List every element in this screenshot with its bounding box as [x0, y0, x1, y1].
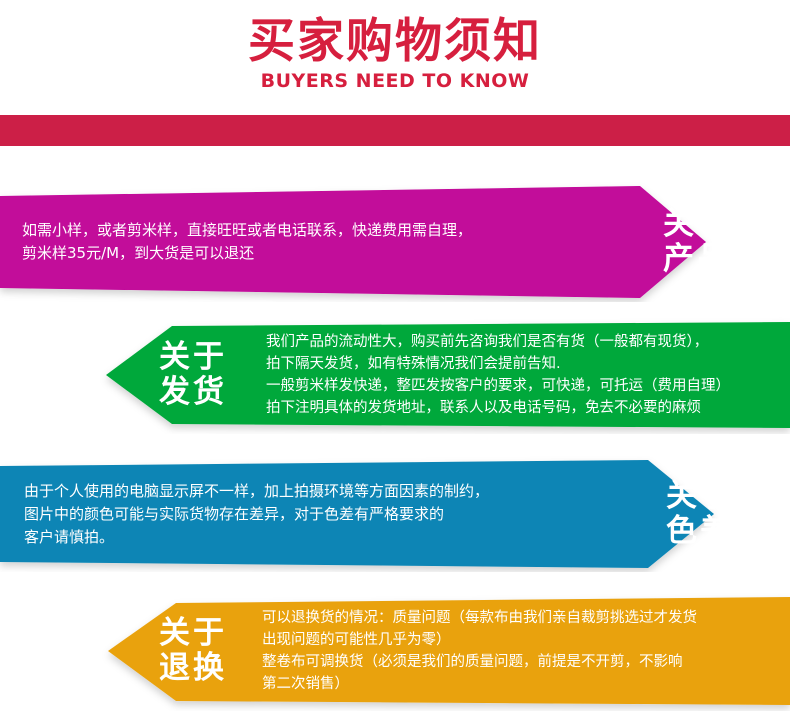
band-text-return: 可以退换货的情况：质量问题（每款布由我们亲自裁剪挑选过才发货 出现问题的可能性几…	[262, 607, 778, 695]
band-label-line: 色差	[630, 514, 770, 549]
notice-band-product: 如需小样，或者剪米样，直接旺旺或者电话联系，快递费用需自理， 剪米样35元/M，…	[0, 182, 790, 302]
shopping-notice-graphic: 买家购物须知 BUYERS NEED TO KNOW 如需小样，或者剪米样，直接…	[0, 0, 790, 727]
notice-band-return: 关于 退换 可以退换货的情况：质量问题（每款布由我们亲自裁剪挑选过才发货 出现问…	[0, 591, 790, 711]
band-text-line: 拍下注明具体的发货地址，联系人以及电话号码，免去不必要的麻烦	[266, 397, 778, 419]
band-content-color: 由于个人使用的电脑显示屏不一样，加上拍摄环境等方面因素的制约， 图片中的颜色可能…	[0, 456, 790, 572]
band-label-line: 关于	[630, 479, 770, 514]
band-content-shipping: 关于 发货 我们产品的流动性大，购买前先咨询我们是否有货（一般都有现货）， 拍下…	[0, 316, 790, 434]
band-label-line: 关于	[132, 616, 254, 651]
band-text-line: 出现问题的可能性几乎为零）	[262, 629, 778, 651]
page-title-cn: 买家购物须知	[0, 14, 790, 70]
band-text-line: 我们产品的流动性大，购买前先咨询我们是否有货（一般都有现货），	[266, 331, 778, 353]
band-label-line: 关于	[622, 207, 772, 242]
band-text-line: 如需小样，或者剪米样，直接旺旺或者电话联系，快递费用需自理，	[22, 219, 616, 242]
band-text-color: 由于个人使用的电脑显示屏不一样，加上拍摄环境等方面因素的制约， 图片中的颜色可能…	[24, 480, 630, 549]
band-text-line: 可以退换货的情况：质量问题（每款布由我们亲自裁剪挑选过才发货	[262, 607, 778, 629]
band-text-line: 图片中的颜色可能与实际货物存在差异，对于色差有严格要求的	[24, 503, 630, 526]
red-divider-banner	[0, 115, 790, 146]
band-text-line: 拍下隔天发货，如有特殊情况我们会提前告知.	[266, 353, 778, 375]
band-label-shipping: 关于 发货	[130, 340, 266, 410]
band-content-return: 关于 退换 可以退换货的情况：质量问题（每款布由我们亲自裁剪挑选过才发货 出现问…	[0, 591, 790, 711]
band-label-line: 退换	[132, 651, 254, 686]
band-text-shipping: 我们产品的流动性大，购买前先咨询我们是否有货（一般都有现货）， 拍下隔天发货，如…	[266, 331, 778, 419]
band-label-line: 关于	[130, 340, 256, 375]
band-label-return: 关于 退换	[132, 616, 262, 686]
band-text-line: 第二次销售）	[262, 673, 778, 695]
band-text-line: 由于个人使用的电脑显示屏不一样，加上拍摄环境等方面因素的制约，	[24, 480, 630, 503]
band-text-line: 剪米样35元/M，到大货是可以退还	[22, 242, 616, 265]
band-content-product: 如需小样，或者剪米样，直接旺旺或者电话联系，快递费用需自理， 剪米样35元/M，…	[0, 182, 790, 302]
band-label-line: 发货	[130, 375, 256, 410]
band-label-product: 关于 产品	[622, 207, 790, 277]
band-text-line: 客户请慎拍。	[24, 526, 630, 549]
page-title-en: BUYERS NEED TO KNOW	[0, 69, 790, 93]
band-text-product: 如需小样，或者剪米样，直接旺旺或者电话联系，快递费用需自理， 剪米样35元/M，…	[22, 219, 622, 265]
notice-band-shipping: 关于 发货 我们产品的流动性大，购买前先咨询我们是否有货（一般都有现货）， 拍下…	[0, 316, 790, 434]
band-text-line: 一般剪米样发快递，整匹发按客户的要求，可快递，可托运（费用自理）	[266, 375, 778, 397]
header: 买家购物须知 BUYERS NEED TO KNOW	[0, 0, 790, 115]
notice-band-color: 由于个人使用的电脑显示屏不一样，加上拍摄环境等方面因素的制约， 图片中的颜色可能…	[0, 456, 790, 572]
band-text-line: 整卷布可调换货（必须是我们的质量问题，前提是不开剪，不影响	[262, 651, 778, 673]
band-label-line: 产品	[622, 242, 772, 277]
band-label-color: 关于 色差	[630, 479, 790, 549]
